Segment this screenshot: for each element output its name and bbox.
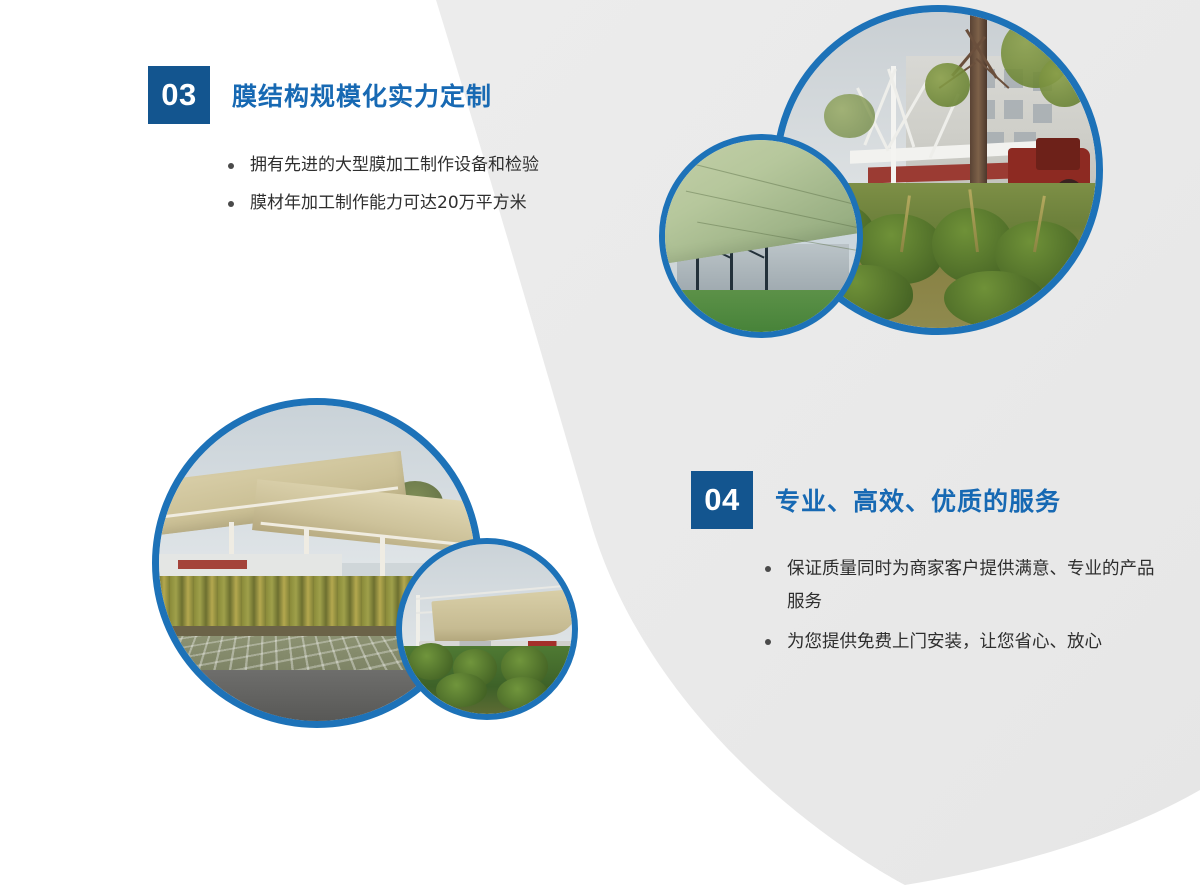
tree-foliage	[925, 63, 969, 107]
turf-ground	[665, 290, 857, 332]
tree-foliage	[1039, 56, 1090, 107]
section-04-title: 专业、高效、优质的服务	[775, 482, 1061, 518]
photo-content	[665, 140, 857, 332]
photo-circle-carpark-membrane	[396, 538, 578, 720]
section-04-header: 04 专业、高效、优质的服务	[691, 471, 1161, 529]
shrub	[436, 673, 487, 707]
tractor-cab	[1036, 138, 1080, 170]
window	[1004, 100, 1023, 119]
list-item: 拥有先进的大型膜加工制作设备和检验	[228, 150, 618, 181]
section-03: 03 膜结构规模化实力定制 拥有先进的大型膜加工制作设备和检验 膜材年加工制作能…	[148, 66, 618, 226]
photo-circle-green-membrane	[659, 134, 863, 338]
shrub	[409, 643, 453, 680]
section-03-header: 03 膜结构规模化实力定制	[148, 66, 618, 124]
list-item: 保证质量同时为商家客户提供满意、专业的产品服务	[765, 553, 1161, 619]
section-04-number-badge: 04	[691, 471, 753, 529]
red-signboard	[178, 560, 248, 569]
section-03-bullet-list: 拥有先进的大型膜加工制作设备和检验 膜材年加工制作能力可达20万平方米	[148, 150, 618, 219]
feature-page: 03 膜结构规模化实力定制 拥有先进的大型膜加工制作设备和检验 膜材年加工制作能…	[0, 0, 1200, 885]
list-item: 为您提供免费上门安装，让您省心、放心	[765, 626, 1161, 659]
section-03-number-badge: 03	[148, 66, 210, 124]
sapling-foliage	[824, 94, 875, 138]
section-04: 04 专业、高效、优质的服务 保证质量同时为商家客户提供满意、专业的产品服务 为…	[691, 471, 1161, 666]
window	[1033, 104, 1052, 123]
section-04-bullet-list: 保证质量同时为商家客户提供满意、专业的产品服务 为您提供免费上门安装，让您省心、…	[691, 553, 1161, 659]
shrub	[497, 677, 548, 711]
list-item: 膜材年加工制作能力可达20万平方米	[228, 188, 618, 219]
section-03-title: 膜结构规模化实力定制	[232, 77, 492, 113]
bush	[944, 271, 1045, 328]
photo-content	[402, 544, 572, 714]
